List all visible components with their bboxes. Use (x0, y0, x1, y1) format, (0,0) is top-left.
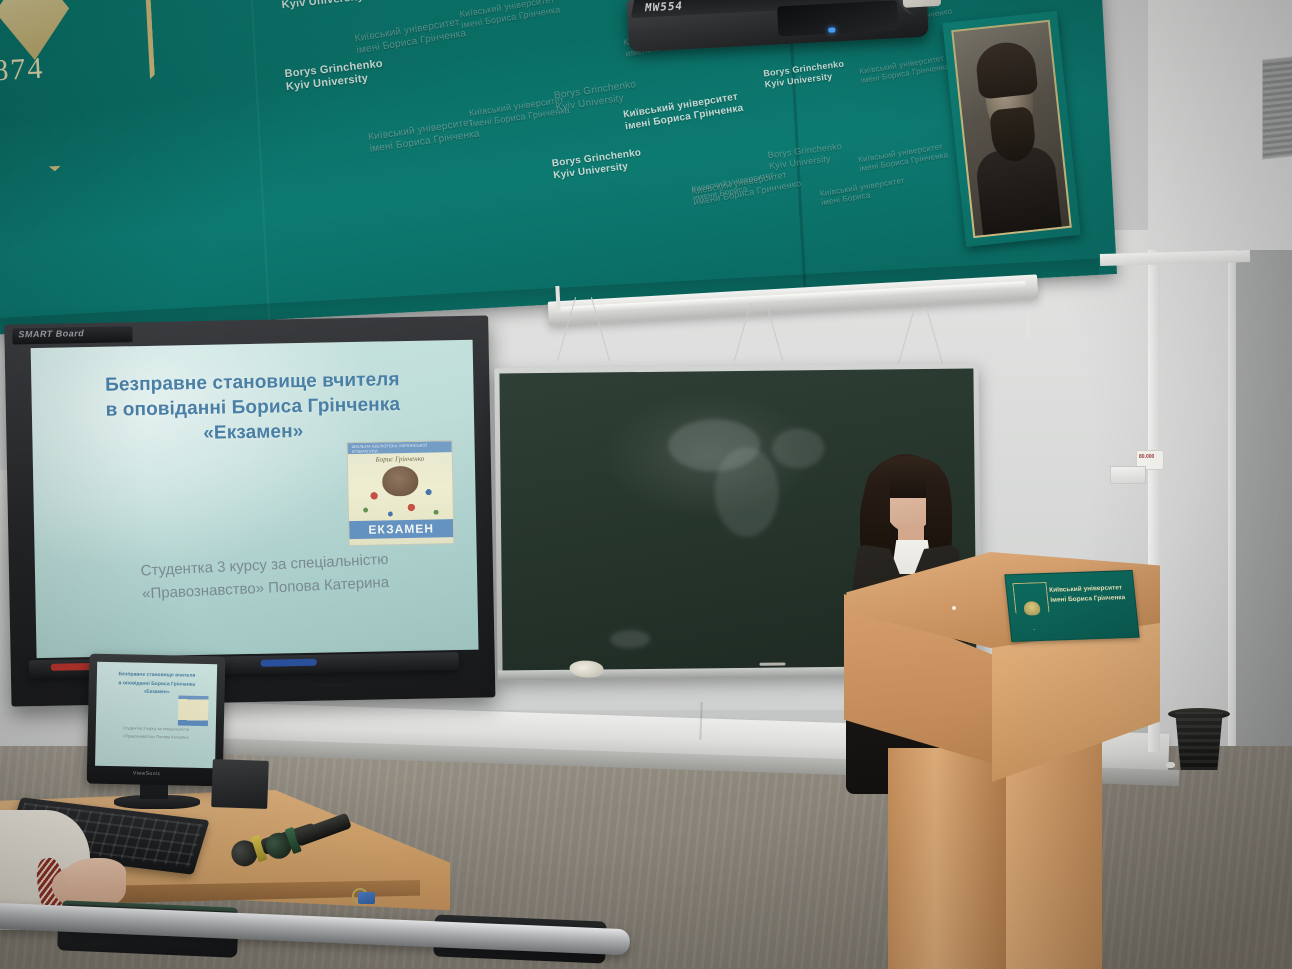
floor-litter (1166, 762, 1175, 768)
book-cover-title: ЕКЗАМЕН (349, 521, 453, 537)
chalk-piece[interactable] (759, 663, 785, 666)
presentation-slide: Безправне становище вчителя в оповіданні… (31, 340, 479, 658)
emblem-year: 1874 (0, 52, 45, 90)
banner-text-r4: Київський університет імені Бориса Грінч… (459, 0, 561, 30)
banner-text-r3: Borys Grinchenko Kyiv University (284, 58, 385, 94)
banner-text-r5: Київський університет імені Бориса Грінч… (367, 117, 480, 156)
lectern: Київський університет імені Бориса Грінч… (840, 552, 1160, 969)
wall-alcove (1232, 250, 1292, 750)
banner-text-r18: Київський університет імені Бориса Грінч… (857, 141, 948, 174)
chalk-residue (714, 447, 779, 538)
book-cover-author: Борис Грінченко (348, 454, 452, 464)
monitor-bezel: Безправне становище вчителя в оповіданні… (87, 654, 226, 787)
banner-text-r10: Київський університет імені Бориса Грінч… (623, 91, 745, 133)
marker-pen-3[interactable] (261, 659, 317, 667)
chalk-residue (610, 630, 650, 648)
banner-text-r2: Київський університет імені Бориса Грінч… (354, 16, 467, 57)
computer-tower (211, 759, 269, 809)
banner-text-r15: Київський університет імені Бориса Грінч… (859, 53, 950, 86)
monitor-slide-title: Безправне становище вчителя в оповіданні… (101, 670, 214, 698)
smartboard-brand-label: SMART Board (18, 328, 84, 339)
banner-text-r20: Київський університет імені Бориса (819, 176, 907, 208)
monitor-book-cover (178, 695, 209, 726)
lecture-hall-photo: 1874 Borys Grinchenko Kyiv UniversityКиї… (0, 0, 1292, 969)
plaque-text: Київський університет імені Бориса Грінч… (1049, 583, 1133, 607)
borys-grinchenko-portrait (942, 11, 1080, 247)
monitor-brand-label: ViewSonic (133, 771, 161, 778)
alcove-edge (1228, 250, 1236, 750)
light-switch[interactable] (1110, 466, 1146, 484)
wall-sticker-text: 80.000 (1139, 454, 1154, 460)
monitor-slide-subtitle: Студентка 3 курсу за спеціальністю «Прав… (102, 724, 210, 741)
plaque-shield-icon (1012, 582, 1051, 631)
banner-text-r11: Borys Grinchenko Kyiv University (551, 147, 643, 182)
monitor-subtitle-line-2: «Правознавство» Попова Катерина (102, 731, 210, 741)
book-cover-image: ШКІЛЬНА БІБЛІОТЕКА УКРАЇНСЬКОЇ ЛІТЕРАТУР… (347, 440, 455, 546)
ventilation-grille-icon (1262, 56, 1292, 159)
key-tag (358, 892, 375, 904)
banner-seam (250, 0, 271, 320)
projector-power-led-icon (828, 27, 835, 32)
chalk-residue (772, 428, 824, 469)
monitor-screen: Безправне становище вчителя в оповіданні… (95, 662, 217, 768)
portrait-mat (951, 20, 1072, 238)
trash-bin (1172, 712, 1226, 770)
slide-subtitle: Студентка 3 курсу за спеціальністю «Прав… (64, 544, 466, 609)
slide-title: Безправне становище вчителя в оповіданні… (45, 366, 460, 449)
monitor-stand (140, 783, 168, 799)
smartboard-cable (311, 670, 357, 687)
lectern-column-left (888, 748, 1006, 969)
projector-model-label: MW554 (644, 0, 684, 14)
projector-lens (777, 0, 898, 36)
lectern-university-plaque: Київський університет імені Бориса Грінч… (1004, 570, 1139, 642)
banner-text-r1: Borys Grinchenko Kyiv University (280, 0, 381, 12)
university-emblem: 1874 (0, 0, 181, 208)
banner-text-r17: Borys Grinchenko Kyiv University (767, 141, 844, 171)
banner-text-r16: Borys Grinchenko Kyiv University (763, 59, 846, 90)
plaque-leaf-icon (1023, 601, 1040, 615)
operator-hand-upper (64, 858, 126, 894)
key-fob[interactable] (352, 888, 380, 908)
portrait-hair (974, 40, 1038, 99)
lectern-screw (952, 606, 956, 610)
book-cover-series-caption: ШКІЛЬНА БІБЛІОТЕКА УКРАЇНСЬКОЇ ЛІТЕРАТУР… (352, 442, 452, 454)
